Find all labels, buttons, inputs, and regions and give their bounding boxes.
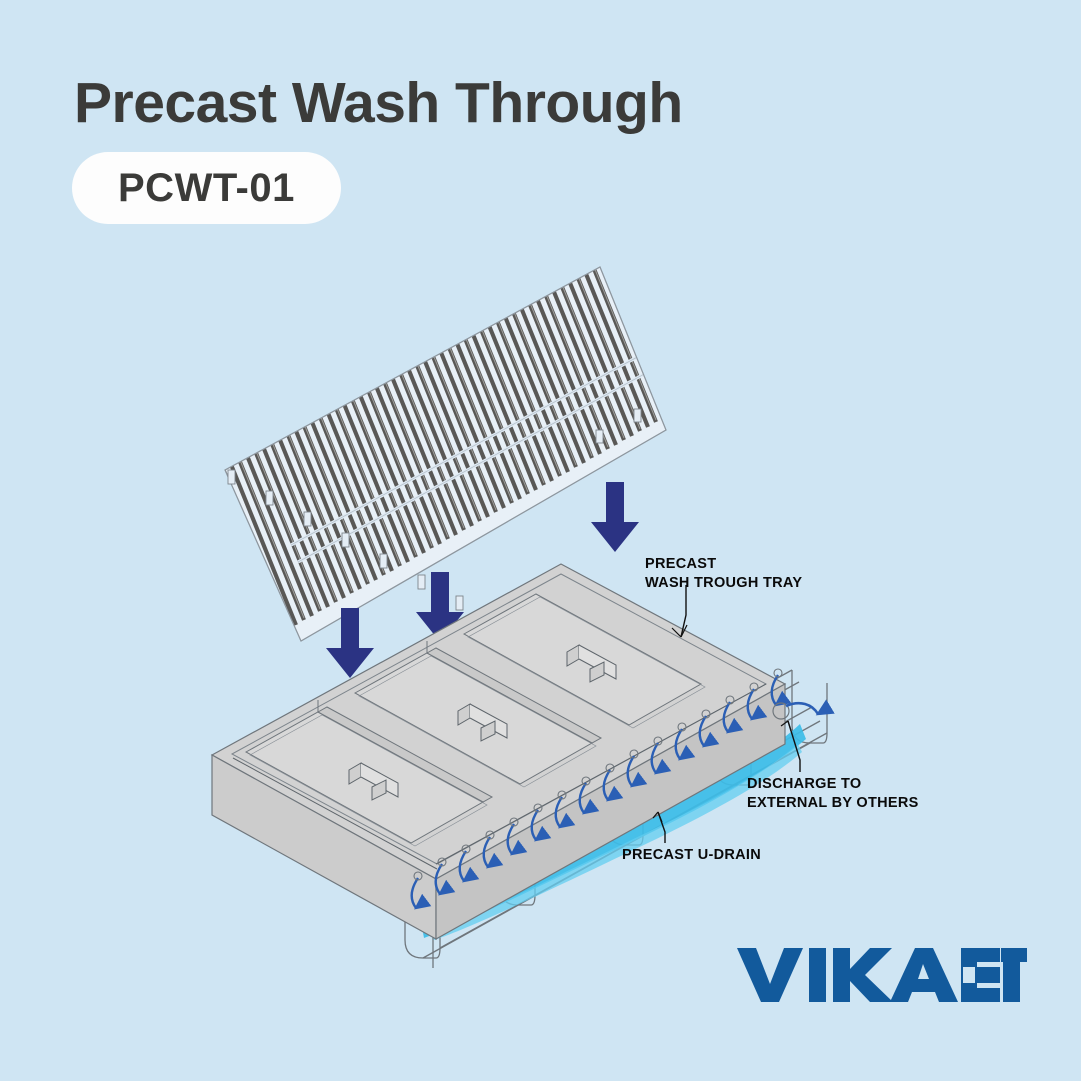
- assembly-arrow-3: [591, 482, 639, 552]
- callout-u-drain: PRECAST U-DRAIN: [622, 846, 761, 865]
- callout-discharge: DISCHARGE TO EXTERNAL BY OTHERS: [747, 775, 919, 812]
- callout-discharge-line1: DISCHARGE TO: [747, 775, 919, 794]
- diagram-canvas: Precast Wash Through PCWT-01: [0, 0, 1081, 1081]
- callout-tray-line2: WASH TROUGH TRAY: [645, 574, 802, 593]
- callout-udrain-line1: PRECAST U-DRAIN: [622, 846, 761, 865]
- callout-wash-trough-tray: PRECAST WASH TROUGH TRAY: [645, 555, 802, 592]
- callout-tray-line1: PRECAST: [645, 555, 802, 574]
- exploded-assembly-illustration: [0, 0, 1081, 1081]
- vikast-logo: [737, 944, 1027, 1006]
- callout-discharge-line2: EXTERNAL BY OTHERS: [747, 794, 919, 813]
